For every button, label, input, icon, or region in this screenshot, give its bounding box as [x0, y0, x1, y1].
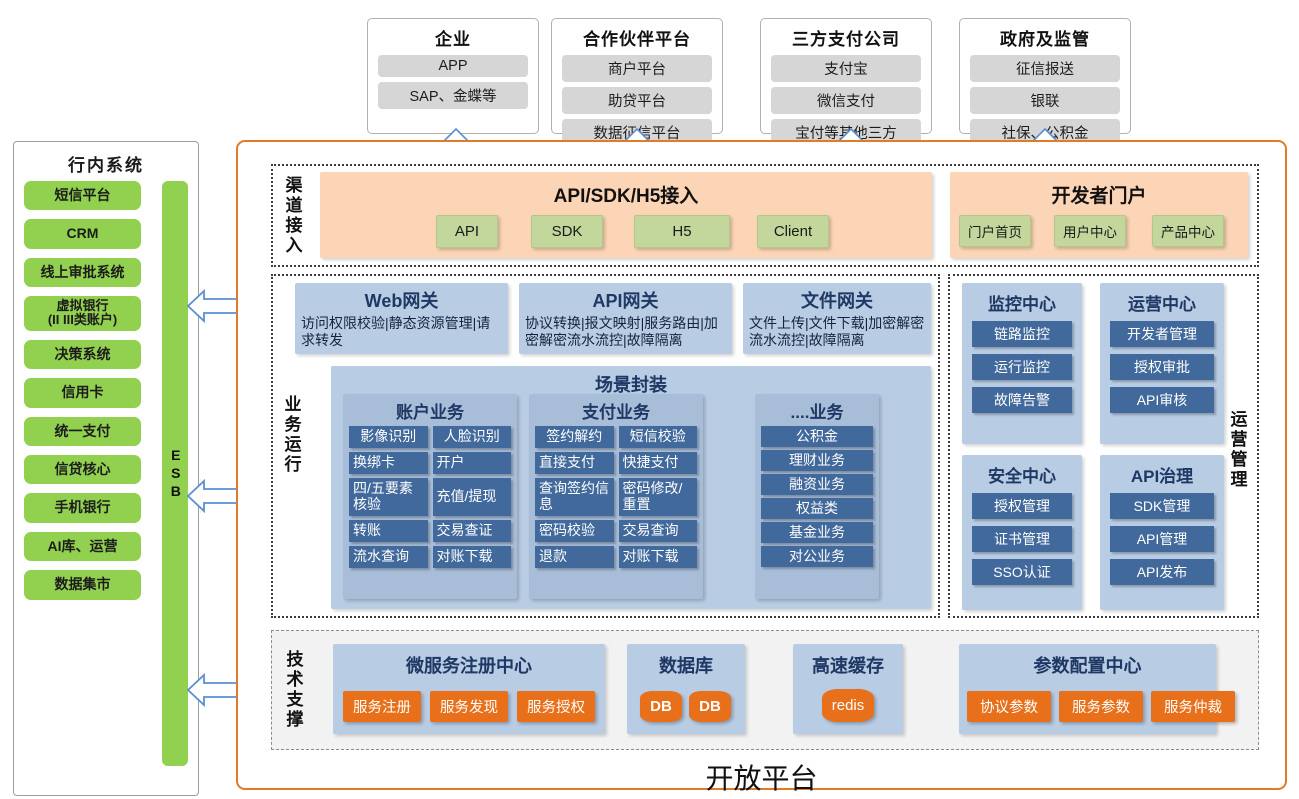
tech-chip-service-arbitration[interactable]: 服务仲裁: [1151, 691, 1235, 722]
business-group-title: ....业务: [755, 398, 879, 423]
tech-chip-service-params[interactable]: 服务参数: [1059, 691, 1143, 722]
external-party-title: 政府及监管: [970, 25, 1120, 50]
business-chip[interactable]: 查询签约信息: [535, 478, 614, 516]
operation-management-label: 运营管理: [1224, 400, 1250, 500]
ops-card-api-governance: API治理 SDK管理 API管理 API发布: [1100, 455, 1224, 610]
ops-card-title: API治理: [1100, 462, 1224, 487]
business-chip[interactable]: 签约解约: [535, 426, 614, 448]
business-chip[interactable]: 对账下载: [619, 546, 698, 568]
ops-chip[interactable]: 授权管理: [972, 493, 1072, 519]
gateway-description: 访问权限校验|静态资源管理|请求转发: [301, 315, 502, 349]
tech-card-title: 微服务注册中心: [333, 652, 605, 678]
business-chip[interactable]: 快捷支付: [619, 452, 698, 474]
business-group-title: 账户业务: [343, 398, 517, 423]
gateway-card-api[interactable]: API网关 协议转换|报文映射|服务路由|加密解密流水流控|故障隔离: [519, 283, 732, 354]
tech-chip-service-register[interactable]: 服务注册: [343, 691, 421, 722]
gateway-title: 文件网关: [749, 287, 925, 313]
business-chip[interactable]: 充值/提现: [433, 478, 512, 516]
bank-systems-title: 行内系统: [14, 151, 198, 176]
tech-card-title: 数据库: [627, 652, 745, 678]
business-chip[interactable]: 基金业务: [761, 522, 873, 543]
business-chip[interactable]: 密码校验: [535, 520, 614, 542]
scene-encapsulation-box: 场景封装 账户业务 影像识别 换绑卡 四/五要素核验 转账 流水查询 人脸识别 …: [331, 366, 931, 609]
esb-bus: ESB: [162, 181, 188, 766]
ops-chip[interactable]: API发布: [1110, 559, 1214, 585]
ops-chip[interactable]: API审核: [1110, 387, 1214, 413]
bank-system-item[interactable]: 统一支付: [24, 417, 141, 446]
dev-portal-chip-home[interactable]: 门户首页: [959, 215, 1031, 247]
external-party-card-third-party-payment[interactable]: 三方支付公司 支付宝 微信支付 宝付等其他三方: [760, 18, 932, 134]
business-chip[interactable]: 短信校验: [619, 426, 698, 448]
ops-chip[interactable]: SDK管理: [1110, 493, 1214, 519]
bank-system-item[interactable]: 短信平台: [24, 181, 141, 210]
ops-card-title: 运营中心: [1100, 290, 1224, 315]
bank-system-item[interactable]: 数据集市: [24, 570, 141, 599]
channel-chip-api[interactable]: API: [436, 215, 498, 248]
tech-chip-service-authorization[interactable]: 服务授权: [517, 691, 595, 722]
business-chip[interactable]: 交易查询: [619, 520, 698, 542]
ops-chip[interactable]: 开发者管理: [1110, 321, 1214, 347]
ops-chip[interactable]: 授权审批: [1110, 354, 1214, 380]
channel-chip-sdk[interactable]: SDK: [531, 215, 603, 248]
tech-card-title: 高速缓存: [793, 652, 903, 678]
database-cylinder-icon[interactable]: DB: [640, 691, 682, 722]
business-group-payment: 支付业务 签约解约 直接支付 查询签约信息 密码校验 退款 短信校验 快捷支付 …: [529, 394, 703, 599]
business-chip[interactable]: 退款: [535, 546, 614, 568]
external-party-item[interactable]: 支付宝: [771, 55, 921, 82]
bank-system-item[interactable]: AI库、运营: [24, 532, 141, 561]
ops-chip[interactable]: 链路监控: [972, 321, 1072, 347]
bank-system-item[interactable]: 虚拟银行 (II III类账户): [24, 296, 141, 331]
channel-chip-h5[interactable]: H5: [634, 215, 730, 248]
redis-cylinder-icon[interactable]: redis: [822, 689, 874, 722]
gateway-description: 文件上传|文件下载|加密解密流水流控|故障隔离: [749, 315, 925, 349]
external-party-card-government-regulator[interactable]: 政府及监管 征信报送 银联 社保、公积金: [959, 18, 1131, 134]
ops-card-title: 安全中心: [962, 462, 1082, 487]
business-chip[interactable]: 公积金: [761, 426, 873, 447]
api-sdk-h5-access-card: API/SDK/H5接入 API SDK H5 Client: [320, 172, 932, 258]
business-chip[interactable]: 对账下载: [433, 546, 512, 568]
business-group-title: 支付业务: [529, 398, 703, 423]
business-chip[interactable]: 开户: [433, 452, 512, 474]
external-party-title: 三方支付公司: [771, 25, 921, 50]
tech-card-cache: 高速缓存 redis: [793, 644, 903, 734]
business-chip[interactable]: 融资业务: [761, 474, 873, 495]
external-party-item[interactable]: SAP、金蝶等: [378, 82, 528, 109]
tech-card-microservice-registry: 微服务注册中心 服务注册 服务发现 服务授权: [333, 644, 605, 734]
business-chip[interactable]: 转账: [349, 520, 428, 542]
external-party-item[interactable]: APP: [378, 55, 528, 77]
ops-card-title: 监控中心: [962, 290, 1082, 315]
database-cylinder-icon[interactable]: DB: [689, 691, 731, 722]
esb-label: ESB: [166, 447, 184, 501]
business-chip[interactable]: 理财业务: [761, 450, 873, 471]
tech-support-label: 技术支撑: [280, 640, 306, 740]
tech-chip-protocol-params[interactable]: 协议参数: [967, 691, 1051, 722]
external-party-item[interactable]: 商户平台: [562, 55, 712, 82]
business-chip[interactable]: 四/五要素核验: [349, 478, 428, 516]
tech-chip-service-discovery[interactable]: 服务发现: [430, 691, 508, 722]
bank-internal-systems-panel: 行内系统 短信平台 CRM 线上审批系统 虚拟银行 (II III类账户) 决策…: [13, 141, 199, 796]
business-group-other: ....业务 公积金 理财业务 融资业务 权益类 基金业务 对公业务: [755, 394, 879, 599]
business-chip[interactable]: 交易查证: [433, 520, 512, 542]
gateway-title: API网关: [525, 287, 726, 313]
bank-system-item[interactable]: 信用卡: [24, 378, 141, 407]
business-run-label: 业务运行: [278, 385, 304, 485]
ops-card-security-center: 安全中心 授权管理 证书管理 SSO认证: [962, 455, 1082, 610]
business-chip[interactable]: 换绑卡: [349, 452, 428, 474]
bank-system-item[interactable]: 信贷核心: [24, 455, 141, 484]
ops-chip[interactable]: 运行监控: [972, 354, 1072, 380]
external-party-item[interactable]: 银联: [970, 87, 1120, 114]
external-party-title: 企业: [378, 25, 528, 50]
business-group-account: 账户业务 影像识别 换绑卡 四/五要素核验 转账 流水查询 人脸识别 开户 充值…: [343, 394, 517, 599]
external-party-item[interactable]: 助贷平台: [562, 87, 712, 114]
bank-system-item[interactable]: 决策系统: [24, 340, 141, 369]
external-party-item[interactable]: 征信报送: [970, 55, 1120, 82]
business-chip[interactable]: 权益类: [761, 498, 873, 519]
business-chip[interactable]: 流水查询: [349, 546, 428, 568]
tech-card-parameter-config-center: 参数配置中心 协议参数 服务参数 服务仲裁: [959, 644, 1216, 734]
ops-chip[interactable]: 故障告警: [972, 387, 1072, 413]
external-party-title: 合作伙伴平台: [562, 25, 712, 50]
api-sdk-h5-access-title: API/SDK/H5接入: [320, 181, 932, 208]
business-chip[interactable]: 密码修改/重置: [619, 478, 698, 516]
bank-system-item[interactable]: CRM: [24, 219, 141, 248]
external-party-card-partner-platform[interactable]: 合作伙伴平台 商户平台 助贷平台 数据征信平台: [551, 18, 723, 134]
dev-portal-chip-user-center[interactable]: 用户中心: [1054, 215, 1126, 247]
business-chip[interactable]: 对公业务: [761, 546, 873, 567]
ops-chip[interactable]: 证书管理: [972, 526, 1072, 552]
bank-system-item[interactable]: 线上审批系统: [24, 258, 141, 287]
ops-card-monitor-center: 监控中心 链路监控 运行监控 故障告警: [962, 283, 1082, 444]
ops-chip[interactable]: SSO认证: [972, 559, 1072, 585]
tech-card-title: 参数配置中心: [959, 652, 1216, 678]
tech-card-database: 数据库 DB DB: [627, 644, 745, 734]
dev-portal-chip-product-center[interactable]: 产品中心: [1152, 215, 1224, 247]
business-chip[interactable]: 直接支付: [535, 452, 614, 474]
developer-portal-title: 开发者门户: [950, 181, 1248, 208]
channel-access-label: 渠道接入: [279, 169, 305, 262]
gateway-title: Web网关: [301, 287, 502, 313]
gateway-card-file[interactable]: 文件网关 文件上传|文件下载|加密解密流水流控|故障隔离: [743, 283, 931, 354]
developer-portal-card: 开发者门户 门户首页 用户中心 产品中心: [950, 172, 1248, 258]
gateway-description: 协议转换|报文映射|服务路由|加密解密流水流控|故障隔离: [525, 315, 726, 349]
external-party-card-enterprise[interactable]: 企业 APP SAP、金蝶等: [367, 18, 539, 134]
bank-system-item[interactable]: 手机银行: [24, 493, 141, 522]
gateway-card-web[interactable]: Web网关 访问权限校验|静态资源管理|请求转发: [295, 283, 508, 354]
bank-systems-list: 短信平台 CRM 线上审批系统 虚拟银行 (II III类账户) 决策系统 信用…: [24, 181, 141, 609]
ops-chip[interactable]: API管理: [1110, 526, 1214, 552]
platform-title: 开放平台: [236, 757, 1287, 797]
business-chip[interactable]: 影像识别: [349, 426, 428, 448]
external-party-item[interactable]: 微信支付: [771, 87, 921, 114]
channel-chip-client[interactable]: Client: [757, 215, 829, 248]
ops-card-operation-center: 运营中心 开发者管理 授权审批 API审核: [1100, 283, 1224, 444]
business-chip[interactable]: 人脸识别: [433, 426, 512, 448]
